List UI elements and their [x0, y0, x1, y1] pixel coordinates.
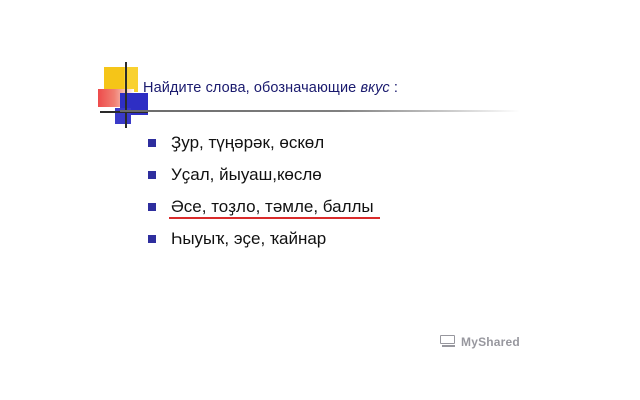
list-item-label: Уҫал, йыуаш,көслө	[171, 162, 322, 188]
list-item: Һыуыҡ, эҫе, ҡайнар	[148, 226, 588, 258]
watermark-label: MyShared	[461, 335, 520, 349]
square-bullet-icon	[148, 139, 156, 147]
list-item-label: Ҙур, түңәрәк, өскөл	[171, 130, 324, 156]
list-item: Уҫал, йыуаш,көслө	[148, 162, 588, 194]
square-bullet-icon	[148, 235, 156, 243]
list-item: Ҙур, түңәрәк, өскөл	[148, 130, 588, 162]
watermark: MyShared	[440, 333, 520, 350]
slide-title-emphasis: вкус	[360, 80, 389, 96]
slide-title-prefix: Найдите слова, обозначающие	[143, 80, 360, 96]
bullet-list: Ҙур, түңәрәк, өскөл Уҫал, йыуаш,көслө Әс…	[148, 130, 588, 258]
slide-title: Найдите слова, обозначающие вкус :	[143, 80, 398, 96]
slide-title-suffix: :	[390, 80, 398, 96]
list-item-label-highlighted: Әсе, тоҙло, тәмле, баллы	[171, 194, 374, 220]
list-item-label: Һыуыҡ, эҫе, ҡайнар	[171, 226, 326, 252]
square-bullet-icon	[148, 203, 156, 211]
square-bullet-icon	[148, 171, 156, 179]
title-divider	[120, 110, 520, 112]
logo-vertical-line	[125, 62, 127, 128]
slide-canvas: Найдите слова, обозначающие вкус : Ҙур, …	[0, 0, 640, 400]
list-item: Әсе, тоҙло, тәмле, баллы	[148, 194, 588, 226]
presentation-screen-icon	[440, 335, 457, 348]
